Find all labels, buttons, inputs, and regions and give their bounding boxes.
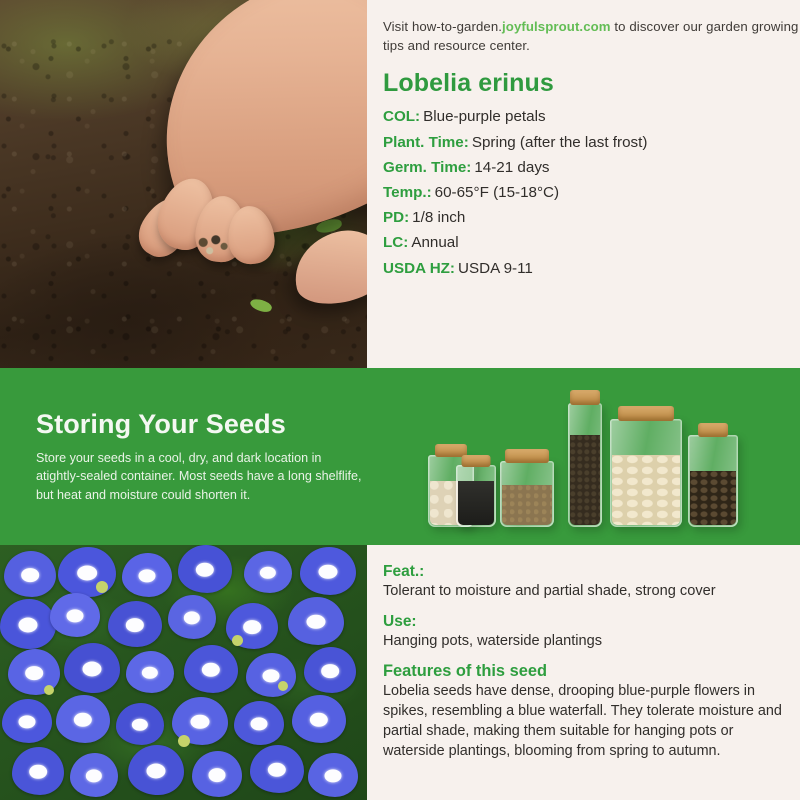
flower-bloom — [300, 547, 356, 595]
fact-row-pd: PD:1/8 inch — [383, 207, 800, 229]
fact-row-germ-time: Germ. Time:14-21 days — [383, 157, 800, 179]
fact-value: 60-65°F (15-18°C) — [435, 184, 559, 201]
brand-link[interactable]: joyfulsprout.com — [502, 19, 611, 34]
seed-jar — [610, 419, 682, 527]
flower-bud — [278, 681, 288, 691]
fact-list: COL:Blue-purple petals Plant. Time:Sprin… — [383, 106, 800, 279]
fact-value: 14-21 days — [474, 159, 549, 176]
features-panel: Feat.: Tolerant to moisture and partial … — [367, 545, 800, 800]
use-group: Use: Hanging pots, waterside plantings — [383, 613, 786, 652]
hand-sowing-seeds-in-soil-photo — [0, 0, 367, 368]
fact-value: 1/8 inch — [412, 209, 465, 226]
visit-prefix: Visit how-to-garden. — [383, 19, 502, 34]
flower-bloom — [108, 601, 162, 647]
jar-seed-fill — [612, 455, 680, 525]
seeds-in-hand — [196, 232, 232, 258]
flower-bud — [178, 735, 190, 747]
feat-value: Tolerant to moisture and partial shade, … — [383, 582, 786, 602]
fact-label: USDA HZ: — [383, 260, 455, 277]
jar-seed-fill — [502, 485, 552, 525]
flower-bud — [96, 581, 108, 593]
seed-jar — [688, 435, 738, 527]
page-title: Lobelia erinus — [383, 69, 800, 98]
storing-body: Store your seeds in a cool, dry, and dar… — [36, 449, 366, 505]
fact-row-col: COL:Blue-purple petals — [383, 106, 800, 128]
fact-value: Spring (after the last frost) — [472, 134, 648, 151]
flower-bloom — [4, 551, 56, 597]
features-heading: Features of this seed — [383, 662, 786, 681]
use-label: Use: — [383, 613, 786, 631]
top-section: Visit how-to-garden.joyfulsprout.com to … — [0, 0, 800, 368]
glass-jars-with-seeds-photo — [400, 377, 800, 537]
storing-text-block: Storing Your Seeds Store your seeds in a… — [0, 409, 400, 505]
flower-bloom — [184, 645, 238, 693]
visit-website-text: Visit how-to-garden.joyfulsprout.com to … — [383, 18, 800, 55]
seed-features-group: Features of this seed Lobelia seeds have… — [383, 662, 786, 762]
flower-bloom — [234, 701, 284, 745]
features-paragraph: Lobelia seeds have dense, drooping blue-… — [383, 682, 786, 762]
storing-title: Storing Your Seeds — [36, 409, 400, 440]
fact-label: COL: — [383, 108, 420, 125]
flower-bloom — [244, 551, 292, 593]
flower-bloom — [250, 745, 304, 793]
flower-bloom — [70, 753, 118, 797]
flower-bloom — [50, 593, 100, 637]
flower-bud — [44, 685, 54, 695]
flower-bloom — [128, 745, 184, 795]
plant-facts-panel: Visit how-to-garden.joyfulsprout.com to … — [367, 0, 800, 368]
jar-seed-fill — [690, 471, 736, 525]
fact-value: USDA 9-11 — [458, 260, 533, 277]
feat-group: Feat.: Tolerant to moisture and partial … — [383, 563, 786, 602]
flower-bloom — [122, 553, 172, 597]
bottom-section: Feat.: Tolerant to moisture and partial … — [0, 545, 800, 800]
flower-bloom — [2, 699, 52, 743]
fact-label: Plant. Time: — [383, 134, 469, 151]
flower-bloom — [56, 695, 110, 743]
fact-row-lc: LC:Annual — [383, 232, 800, 254]
flower-bloom — [12, 747, 64, 795]
flower-bloom — [246, 653, 296, 697]
jar-seed-fill — [570, 435, 600, 525]
flower-bloom — [308, 753, 358, 797]
fact-row-plant-time: Plant. Time:Spring (after the last frost… — [383, 132, 800, 154]
flower-bloom — [192, 751, 242, 797]
cork-lid-icon — [570, 390, 600, 405]
flower-bud — [232, 635, 243, 646]
flower-bloom — [292, 695, 346, 743]
flower-bloom — [116, 703, 164, 745]
jar-seed-fill — [458, 481, 494, 525]
fact-value: Annual — [411, 234, 458, 251]
flower-bloom — [288, 597, 344, 645]
cork-lid-icon — [698, 423, 728, 437]
cork-lid-icon — [505, 449, 549, 463]
fact-label: PD: — [383, 209, 409, 226]
fact-label: Temp.: — [383, 184, 432, 201]
storing-seeds-band: Storing Your Seeds Store your seeds in a… — [0, 368, 800, 545]
cork-lid-icon — [618, 406, 674, 421]
cork-lid-icon — [462, 455, 491, 467]
fact-row-temp: Temp.:60-65°F (15-18°C) — [383, 182, 800, 204]
feat-label: Feat.: — [383, 563, 786, 581]
seed-packet-card: Visit how-to-garden.joyfulsprout.com to … — [0, 0, 800, 800]
fact-label: LC: — [383, 234, 408, 251]
flower-bloom — [178, 545, 232, 593]
blue-lobelia-flowers-photo — [0, 545, 367, 800]
use-value: Hanging pots, waterside plantings — [383, 632, 786, 652]
seed-jar — [568, 403, 602, 527]
flower-bloom — [304, 647, 356, 693]
seed-jar — [456, 465, 496, 527]
seed-jar — [500, 461, 554, 527]
flower-bloom — [126, 651, 174, 693]
fact-label: Germ. Time: — [383, 159, 471, 176]
flower-bloom — [64, 643, 120, 693]
fact-value: Blue-purple petals — [423, 108, 545, 125]
fact-row-usda-hz: USDA HZ:USDA 9-11 — [383, 258, 800, 280]
flower-bloom — [0, 599, 56, 649]
flower-bloom — [168, 595, 216, 639]
